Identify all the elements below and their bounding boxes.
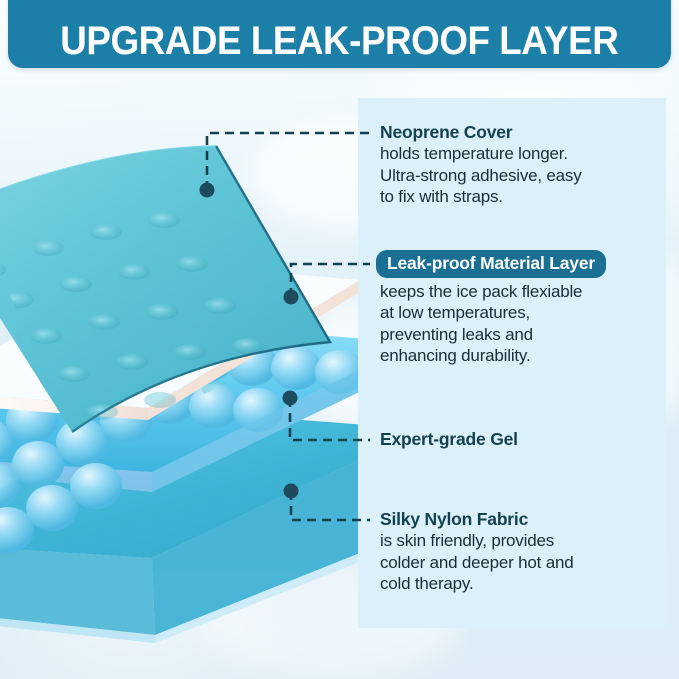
callout-body-line: cold therapy. xyxy=(380,573,662,595)
callout-body-line: holds temperature longer. xyxy=(380,143,662,165)
page-title: UPGRADE LEAK-PROOF LAYER xyxy=(60,21,618,61)
callout-body: is skin friendly, provides colder and de… xyxy=(380,530,662,595)
header-banner: UPGRADE LEAK-PROOF LAYER xyxy=(8,0,671,68)
callout-body-line: keeps the ice pack flexiable xyxy=(380,281,662,303)
callout-heading: Neoprene Cover xyxy=(380,122,662,143)
callout-text-panel: Neoprene Cover holds temperature longer.… xyxy=(358,98,666,628)
callout-body-line: preventing leaks and xyxy=(380,324,662,346)
callout-body-line: colder and deeper hot and xyxy=(380,552,662,574)
callout-body: keeps the ice pack flexiable at low temp… xyxy=(380,281,662,367)
callout-body-line: enhancing durability. xyxy=(380,345,662,367)
ice-pack-layer-illustration xyxy=(0,120,380,650)
callout-heading: Expert-grade Gel xyxy=(380,429,662,450)
callout-body-line: at low temperatures, xyxy=(380,302,662,324)
infographic-canvas: UPGRADE LEAK-PROOF LAYER Neoprene Cover … xyxy=(0,0,679,679)
callout-body-line: to fix with straps. xyxy=(380,186,662,208)
callout-body-line: is skin friendly, provides xyxy=(380,530,662,552)
callout-neoprene-cover: Neoprene Cover holds temperature longer.… xyxy=(380,122,662,208)
callout-leak-proof-material-layer: Leak-proof Material Layer keeps the ice … xyxy=(380,250,662,367)
callout-body: holds temperature longer. Ultra-strong a… xyxy=(380,143,662,208)
callout-heading-badge: Leak-proof Material Layer xyxy=(376,250,606,278)
callout-heading: Silky Nylon Fabric xyxy=(380,509,662,530)
callout-body-line: Ultra-strong adhesive, easy xyxy=(380,165,662,187)
callout-expert-grade-gel: Expert-grade Gel xyxy=(380,429,662,450)
callout-silky-nylon-fabric: Silky Nylon Fabric is skin friendly, pro… xyxy=(380,509,662,595)
